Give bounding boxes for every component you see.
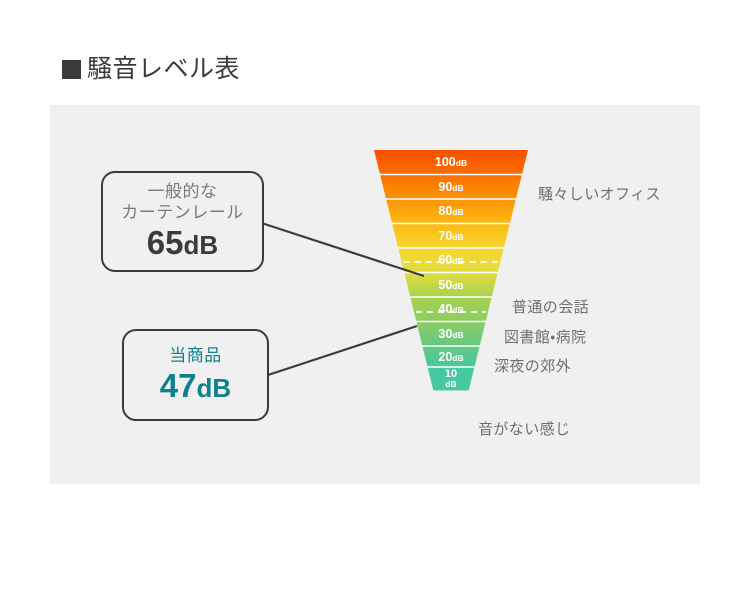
- callout-value-number: 65: [147, 224, 184, 261]
- callout-value-65db: 65dB: [147, 225, 218, 261]
- callout-value-47db: 47dB: [160, 368, 231, 404]
- callout-value-number: 47: [160, 367, 197, 404]
- side-label-2: 図書館・病院: [504, 330, 587, 345]
- callout-line-1: 一般的な: [148, 182, 218, 203]
- callout-line-1: 当商品: [169, 346, 222, 367]
- callout-generic-curtain-rail[interactable]: 一般的な カーテンレール 65dB: [101, 171, 264, 272]
- side-label-1: 普通の会話: [512, 300, 589, 315]
- callout-value-unit: dB: [184, 230, 219, 260]
- connector-line-65db: [263, 224, 424, 277]
- callout-line-2: カーテンレール: [121, 203, 244, 224]
- noise-level-infographic: 騒音レベル表 一般的な カーテンレール 65dB 当商品 47dB 100dB9…: [0, 0, 750, 597]
- callout-connector-lines: [0, 0, 750, 597]
- connector-line-47db: [268, 326, 417, 375]
- side-label-3: 深夜の郊外: [494, 359, 571, 374]
- callout-value-unit: dB: [197, 373, 232, 403]
- side-label-4: 音がない感じ: [478, 422, 570, 437]
- side-label-0: 騒々しいオフィス: [538, 187, 661, 202]
- callout-this-product[interactable]: 当商品 47dB: [122, 329, 269, 421]
